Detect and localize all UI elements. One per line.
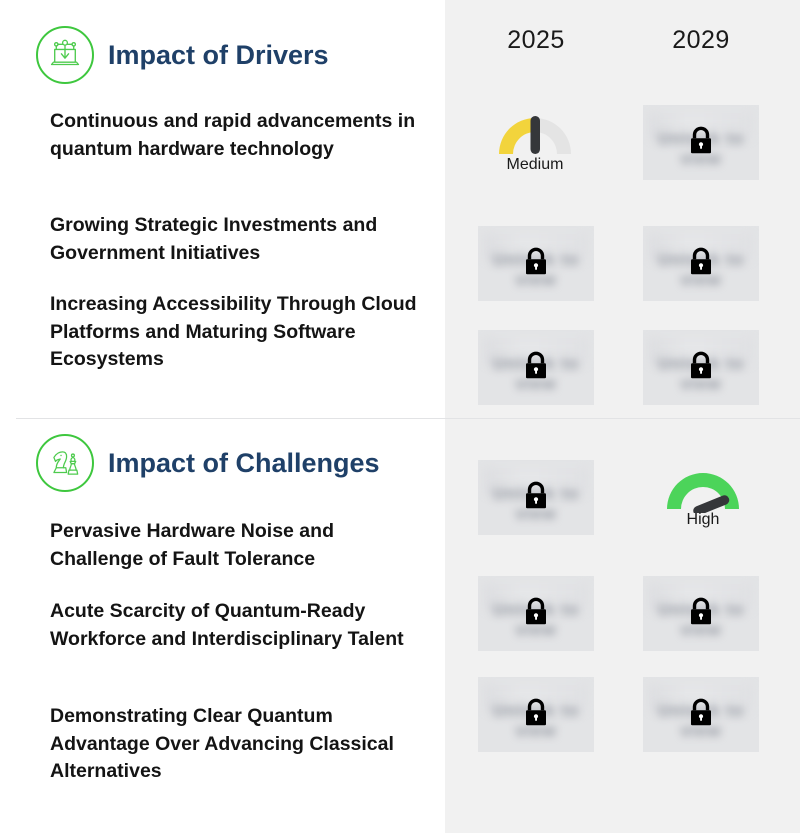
section-header-challenges: Impact of Challenges (36, 434, 380, 492)
locked-tile-drivers-3-2029[interactable]: Unlock to view (643, 330, 759, 405)
gauge-dial-medium (494, 110, 576, 158)
locked-tile-drivers-2-2025[interactable]: Unlock to view (478, 226, 594, 301)
lock-icon (686, 349, 716, 383)
driver-item-1-text: Continuous and rapid advancements in qua… (50, 108, 430, 163)
lock-icon (521, 349, 551, 383)
section-divider (16, 418, 800, 419)
gauge-dial-high (662, 465, 744, 513)
locked-tile-challenges-2-2029[interactable]: Unlock to view (643, 576, 759, 651)
lock-icon (521, 696, 551, 730)
challenge-item-1-text: Pervasive Hardware Noise and Challenge o… (50, 518, 430, 573)
challenge-item-2-text: Acute Scarcity of Quantum-Ready Workforc… (50, 598, 430, 653)
section-title-drivers: Impact of Drivers (108, 40, 329, 71)
column-header-2029: 2029 (641, 26, 761, 55)
driver-item-3-text: Increasing Accessibility Through Cloud P… (50, 291, 430, 374)
locked-tile-challenges-2-2025[interactable]: Unlock to view (478, 576, 594, 651)
chess-pieces-icon (36, 434, 94, 492)
lock-icon (686, 595, 716, 629)
locked-tile-drivers-1-2029[interactable]: Unlock to view (643, 105, 759, 180)
section-title-challenges: Impact of Challenges (108, 448, 380, 479)
driver-item-2-text: Growing Strategic Investments and Govern… (50, 212, 430, 267)
lock-icon (686, 124, 716, 158)
laptop-download-network-icon (36, 26, 94, 84)
locked-tile-drivers-3-2025[interactable]: Unlock to view (478, 330, 594, 405)
column-header-2025: 2025 (476, 26, 596, 55)
locked-tile-challenges-3-2025[interactable]: Unlock to view (478, 677, 594, 752)
gauge-label-high: High (645, 511, 761, 529)
rating-gauge-challenges-1-2029[interactable]: High (645, 465, 761, 545)
lock-icon (521, 245, 551, 279)
rating-gauge-drivers-1-2025[interactable]: Medium (477, 110, 593, 190)
locked-tile-drivers-2-2029[interactable]: Unlock to view (643, 226, 759, 301)
gauge-label-medium: Medium (477, 156, 593, 174)
section-header-drivers: Impact of Drivers (36, 26, 329, 84)
locked-tile-challenges-3-2029[interactable]: Unlock to view (643, 677, 759, 752)
lock-icon (521, 479, 551, 513)
challenge-item-3-text: Demonstrating Clear Quantum Advantage Ov… (50, 703, 430, 786)
lock-icon (686, 245, 716, 279)
locked-tile-challenges-1-2025[interactable]: Unlock to view (478, 460, 594, 535)
lock-icon (521, 595, 551, 629)
lock-icon (686, 696, 716, 730)
